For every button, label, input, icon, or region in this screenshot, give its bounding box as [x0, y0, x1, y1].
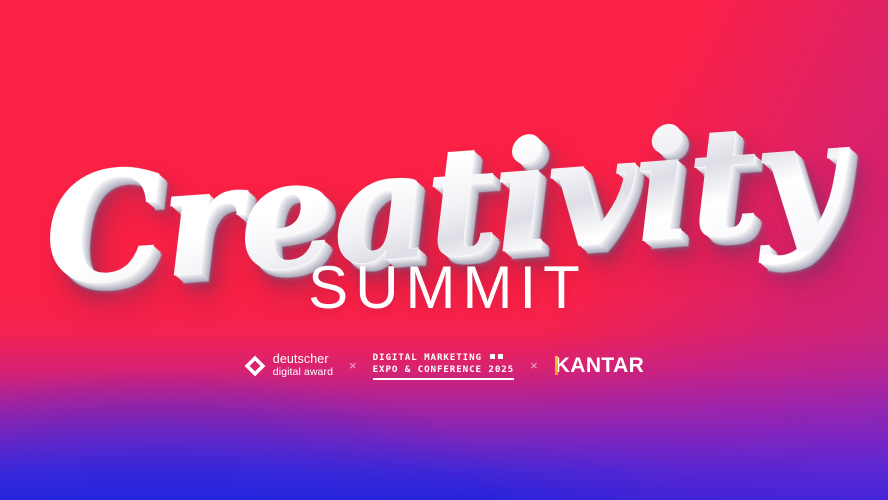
logo-deutscher-digital-award-text: deutscher digital award — [273, 353, 333, 378]
kantar-wordmark: KANTAR — [555, 354, 645, 377]
poster-canvas: Creativity Creativity SUMMIT deutscher d… — [0, 0, 888, 500]
partner-logo-bar: deutscher digital award × DIGITAL MARKET… — [0, 352, 888, 380]
dmexco-squares-icon — [490, 354, 503, 359]
hero-lockup: Creativity Creativity SUMMIT deutscher d… — [0, 0, 888, 500]
separator-x-2: × — [528, 359, 540, 372]
dmexco-underline-rule — [373, 378, 515, 380]
kantar-accent-bar — [555, 356, 559, 375]
dmexco-top-row: DIGITAL MARKETING — [373, 353, 515, 364]
dmexco-line-2: EXPO & CONFERENCE 2025 — [373, 365, 515, 376]
diamond-outline-icon — [244, 355, 266, 377]
logo-dmexco[interactable]: DIGITAL MARKETING EXPO & CONFERENCE 2025 — [373, 352, 515, 380]
logo-kantar[interactable]: KANTAR — [554, 355, 645, 376]
dda-line-1: deutscher — [273, 353, 333, 367]
subtitle-wrap: SUMMIT — [0, 258, 888, 318]
subtitle-summit: SUMMIT — [301, 258, 587, 318]
dda-line-2: digital award — [273, 367, 333, 378]
separator-x-1: × — [347, 359, 359, 372]
logo-deutscher-digital-award[interactable]: deutscher digital award — [244, 353, 333, 378]
dmexco-line-1: DIGITAL MARKETING — [373, 353, 482, 364]
